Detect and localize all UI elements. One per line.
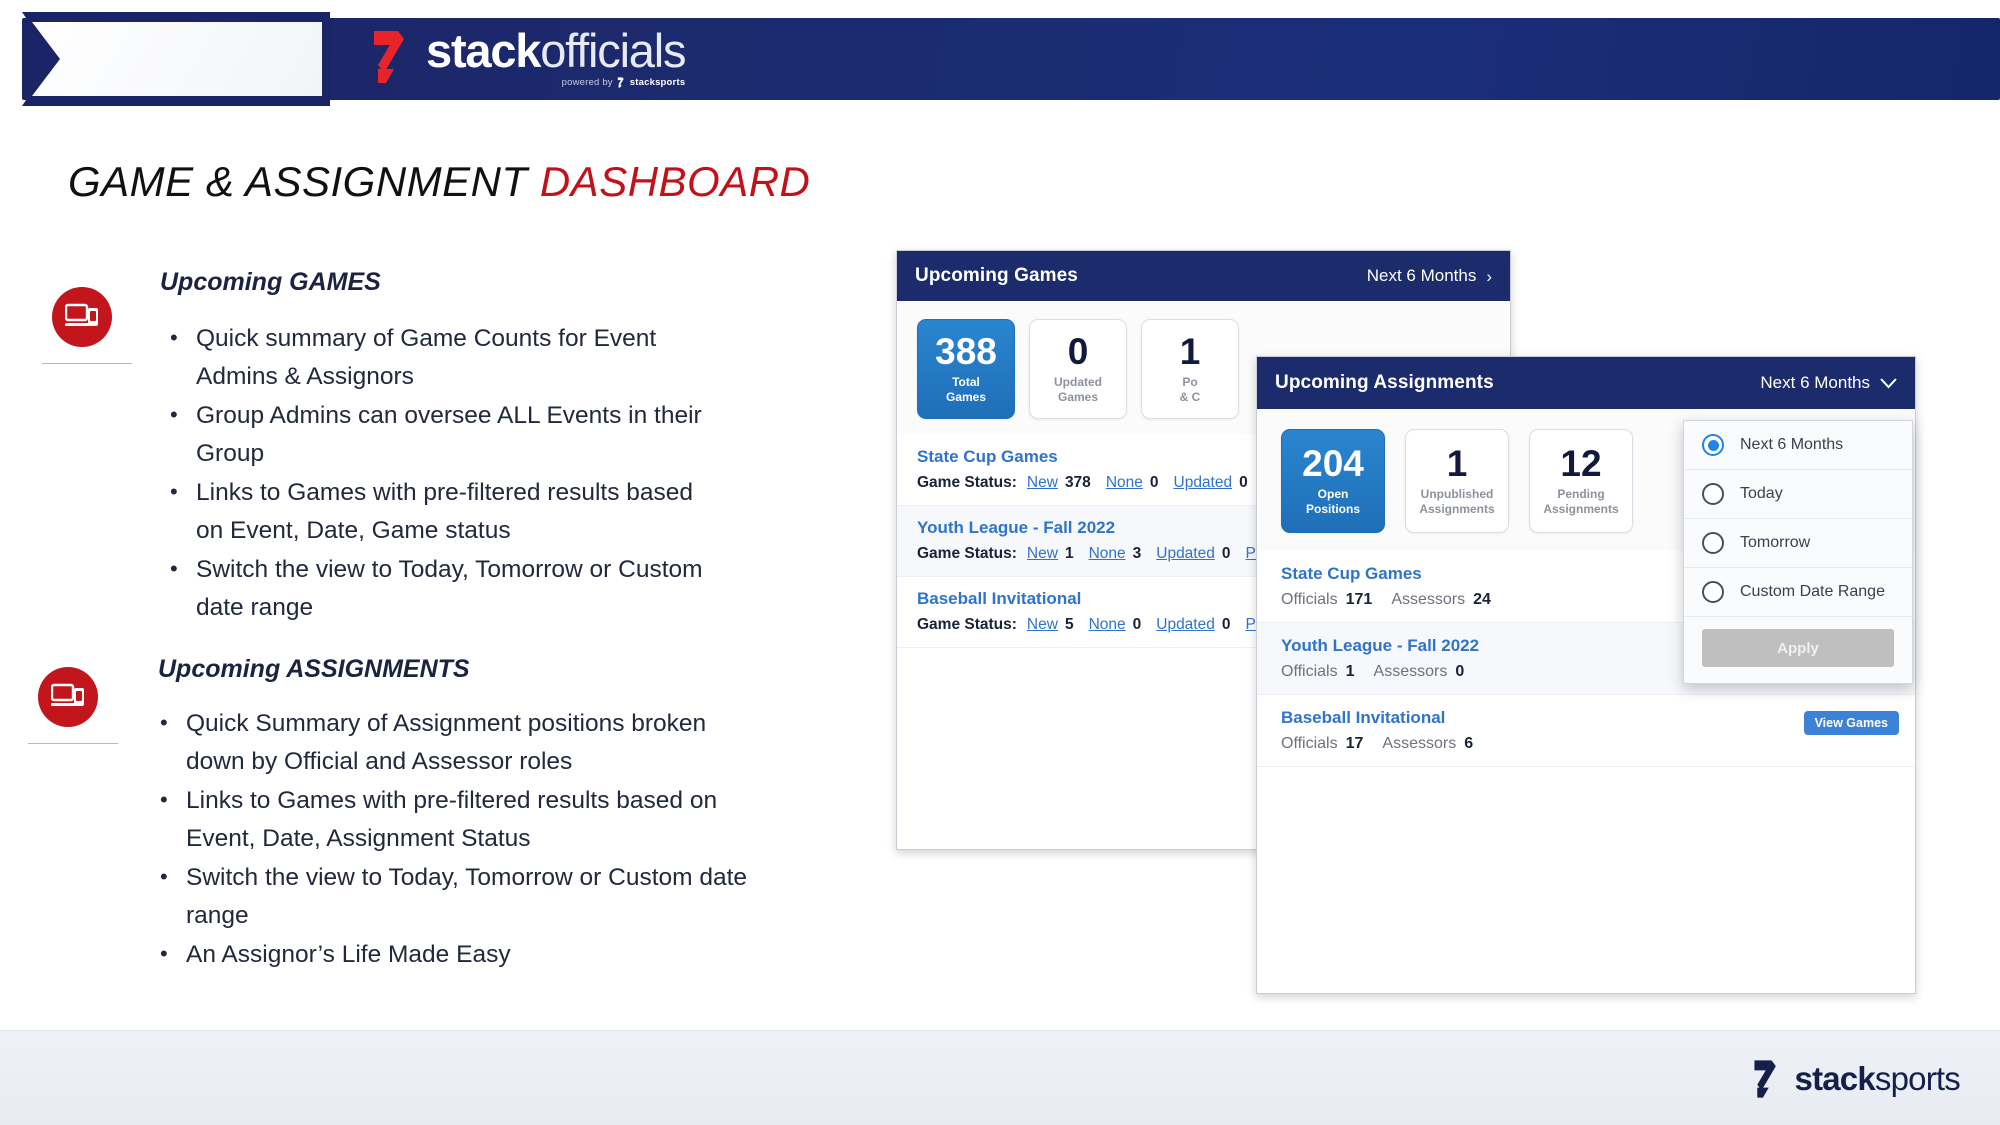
logo-light-text: officials xyxy=(540,24,685,77)
list-item: An Assignor’s Life Made Easy xyxy=(148,936,748,974)
assignments-card-title: Upcoming Assignments xyxy=(1275,372,1494,394)
officials-count: 1 xyxy=(1346,663,1355,681)
tile-label-line2: & C xyxy=(1180,390,1201,405)
game-status-label: Game Status: xyxy=(917,474,1017,492)
list-item: Links to Games with pre-filtered results… xyxy=(148,782,748,858)
dropdown-apply-wrap: Apply xyxy=(1684,617,1912,683)
games-range-selector[interactable]: Next 6 Months › xyxy=(1367,266,1492,286)
logo-bold-text: stack xyxy=(426,24,540,77)
status-count-none: 0 xyxy=(1133,616,1142,634)
status-link-new[interactable]: New xyxy=(1027,545,1058,563)
status-link-none[interactable]: None xyxy=(1089,616,1126,634)
tile-value: 1 xyxy=(1180,333,1201,371)
games-range-label: Next 6 Months xyxy=(1367,266,1477,286)
assessors-count: 24 xyxy=(1473,591,1491,609)
radio-icon[interactable] xyxy=(1702,483,1724,505)
dropdown-option-label: Today xyxy=(1740,485,1783,503)
dropdown-option-label: Tomorrow xyxy=(1740,534,1810,552)
tile-unpublished-assignments[interactable]: 1 Unpublished Assignments xyxy=(1405,429,1509,533)
view-games-button[interactable]: View Games xyxy=(1804,711,1899,735)
games-card-header: Upcoming Games Next 6 Months › xyxy=(897,251,1510,301)
footer-logo-light: sports xyxy=(1875,1060,1960,1097)
status-count-none: 3 xyxy=(1133,545,1142,563)
event-name-link[interactable]: Baseball Invitational xyxy=(1281,708,1891,728)
section-heading-assignments: Upcoming ASSIGNMENTS xyxy=(158,655,470,684)
status-count-updated: 0 xyxy=(1222,616,1231,634)
tile-label-line1: Po xyxy=(1180,375,1201,390)
list-item: Quick Summary of Assignment positions br… xyxy=(148,705,748,781)
logo-powered-prefix: powered by xyxy=(562,77,613,88)
dropdown-option-label: Custom Date Range xyxy=(1740,583,1885,601)
assessors-label: Assessors xyxy=(1391,591,1465,609)
status-link-new[interactable]: New xyxy=(1027,616,1058,634)
page-title-part2: DASHBOARD xyxy=(540,158,811,205)
tile-label-line1: Unpublished xyxy=(1419,487,1494,502)
page-title-part1: GAME & ASSIGNMENT xyxy=(68,158,540,205)
page-title: GAME & ASSIGNMENT DASHBOARD xyxy=(68,158,810,206)
date-range-dropdown: Next 6 Months Today Tomorrow Custom Date… xyxy=(1683,420,1913,684)
logo-powered-by: powered by stacksports xyxy=(562,77,686,88)
top-banner: stackofficials powered by stacksports xyxy=(0,0,2000,118)
list-item: Links to Games with pre-filtered results… xyxy=(158,474,718,550)
dropdown-option-tomorrow[interactable]: Tomorrow xyxy=(1684,519,1912,568)
list-item: Quick summary of Game Counts for Event A… xyxy=(158,320,718,396)
footer: stacksports xyxy=(0,1030,2000,1125)
tile-total-games[interactable]: 388 Total Games xyxy=(917,319,1015,419)
tile-label-line2: Positions xyxy=(1306,502,1360,517)
assessors-count: 0 xyxy=(1455,663,1464,681)
game-status-label: Game Status: xyxy=(917,545,1017,563)
tile-label-line2: Assignments xyxy=(1419,502,1494,517)
section-rule xyxy=(42,363,132,364)
radio-icon[interactable] xyxy=(1702,581,1724,603)
tile-label-line2: Games xyxy=(1054,390,1102,405)
list-item: Switch the view to Today, Tomorrow or Cu… xyxy=(148,859,748,935)
chevron-down-icon xyxy=(1880,378,1897,389)
radio-icon-selected[interactable] xyxy=(1702,434,1724,456)
dropdown-option-label: Next 6 Months xyxy=(1740,436,1843,454)
logo-powered-brand: stacksports xyxy=(630,77,686,88)
officials-count: 17 xyxy=(1346,735,1364,753)
assignments-card-header: Upcoming Assignments Next 6 Months xyxy=(1257,357,1915,409)
status-link-none[interactable]: None xyxy=(1106,474,1143,492)
status-link-updated[interactable]: Updated xyxy=(1156,616,1215,634)
status-count-updated: 0 xyxy=(1239,474,1248,492)
tile-value: 388 xyxy=(935,333,997,371)
tile-label-line2: Games xyxy=(946,390,986,405)
game-status-label: Game Status: xyxy=(917,616,1017,634)
stack-chevron-small-icon xyxy=(616,77,627,88)
tile-updated-games[interactable]: 0 Updated Games xyxy=(1029,319,1127,419)
tile-label-line1: Pending xyxy=(1543,487,1618,502)
chevron-right-icon: › xyxy=(1486,268,1492,285)
banner-arrow-inner xyxy=(26,22,322,96)
assignments-range-label: Next 6 Months xyxy=(1760,373,1870,393)
bullet-list-games: Quick summary of Game Counts for Event A… xyxy=(158,320,718,628)
status-link-updated[interactable]: Updated xyxy=(1156,545,1215,563)
devices-icon xyxy=(52,287,112,347)
assessors-label: Assessors xyxy=(1374,663,1448,681)
officials-label: Officials xyxy=(1281,663,1338,681)
radio-icon[interactable] xyxy=(1702,532,1724,554)
section-rule xyxy=(28,743,118,744)
tile-pending-assignments[interactable]: 12 Pending Assignments xyxy=(1529,429,1633,533)
table-row: Baseball Invitational Officials17 Assess… xyxy=(1257,695,1915,767)
assessors-label: Assessors xyxy=(1382,735,1456,753)
stack-chevron-icon xyxy=(1751,1059,1785,1099)
assignments-range-selector[interactable]: Next 6 Months xyxy=(1760,373,1897,393)
status-link-truncated[interactable]: P xyxy=(1245,616,1255,634)
devices-icon xyxy=(38,667,98,727)
section-heading-games: Upcoming GAMES xyxy=(160,268,381,297)
status-link-updated[interactable]: Updated xyxy=(1174,474,1233,492)
status-link-new[interactable]: New xyxy=(1027,474,1058,492)
officials-label: Officials xyxy=(1281,735,1338,753)
tile-value: 204 xyxy=(1302,445,1364,483)
stack-chevron-icon xyxy=(370,29,416,85)
tile-label-line2: Assignments xyxy=(1543,502,1618,517)
tile-value: 0 xyxy=(1068,333,1089,371)
tile-label-line1: Updated xyxy=(1054,375,1102,390)
status-count-new: 1 xyxy=(1065,545,1074,563)
list-item: Switch the view to Today, Tomorrow or Cu… xyxy=(158,551,718,627)
officials-count: 171 xyxy=(1346,591,1373,609)
tile-label-line1: Open xyxy=(1306,487,1360,502)
status-count-new: 5 xyxy=(1065,616,1074,634)
dropdown-option-custom-date-range[interactable]: Custom Date Range xyxy=(1684,568,1912,617)
list-item: Group Admins can oversee ALL Events in t… xyxy=(158,397,718,473)
games-card-title: Upcoming Games xyxy=(915,265,1078,287)
footer-logo-bold: stack xyxy=(1795,1060,1875,1097)
status-link-none[interactable]: None xyxy=(1089,545,1126,563)
tile-value: 12 xyxy=(1560,445,1601,483)
dropdown-option-next-6-months[interactable]: Next 6 Months xyxy=(1684,421,1912,470)
tile-postponed-cancelled-games[interactable]: 1 Po & C xyxy=(1141,319,1239,419)
stacksports-logo: stacksports xyxy=(1751,1059,1960,1099)
dropdown-option-today[interactable]: Today xyxy=(1684,470,1912,519)
tile-open-positions[interactable]: 204 Open Positions xyxy=(1281,429,1385,533)
officials-label: Officials xyxy=(1281,591,1338,609)
status-count-updated: 0 xyxy=(1222,545,1231,563)
status-count-new: 378 xyxy=(1065,474,1091,492)
assessors-count: 6 xyxy=(1464,735,1473,753)
tile-label-line1: Total xyxy=(946,375,986,390)
apply-button[interactable]: Apply xyxy=(1702,629,1894,667)
bullet-list-assignments: Quick Summary of Assignment positions br… xyxy=(148,705,748,975)
tile-value: 1 xyxy=(1447,445,1468,483)
status-count-none: 0 xyxy=(1150,474,1159,492)
stackofficials-logo: stackofficials powered by stacksports xyxy=(370,26,685,88)
